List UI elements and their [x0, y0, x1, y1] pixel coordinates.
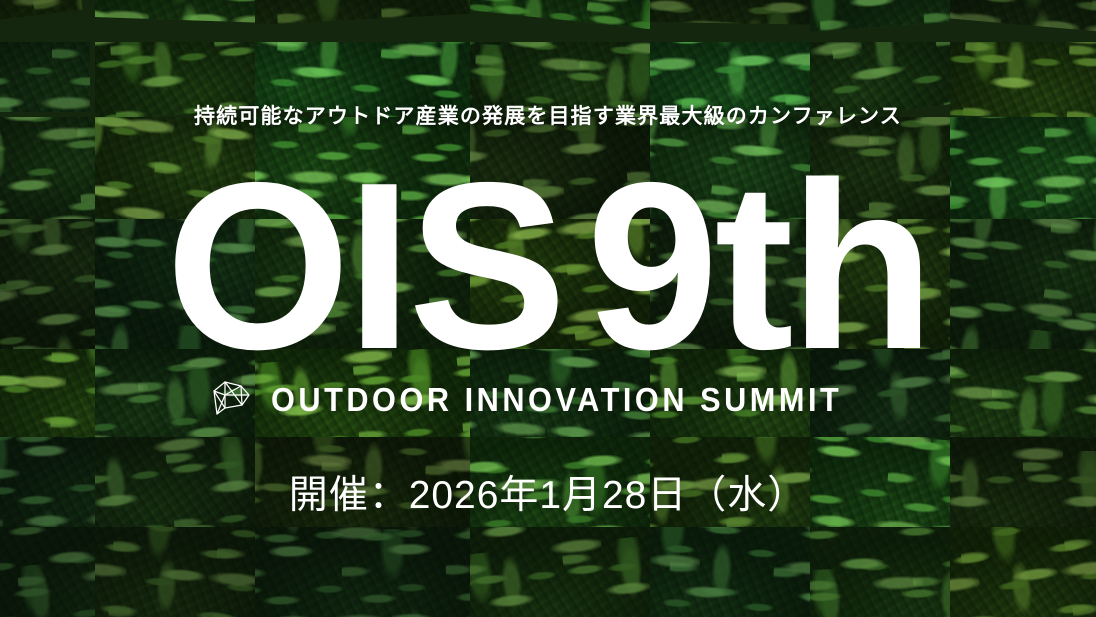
poster-content: 持続可能なアウトドア産業の発展を目指す業界最大級のカンファレンス OIS9th … — [0, 0, 1096, 617]
title-acronym: OIS — [165, 134, 562, 399]
event-poster: 持続可能なアウトドア産業の発展を目指す業界最大級のカンファレンス OIS9th … — [0, 0, 1096, 617]
poster-date: 開催：2026年1月28日（水） — [0, 473, 1096, 520]
faceted-gem-icon — [211, 378, 253, 420]
title-edition: 9th — [586, 134, 930, 399]
poster-subtitle: OUTDOOR INNOVATION SUMMIT — [271, 383, 842, 416]
poster-tagline: 持続可能なアウトドア産業の発展を目指す業界最大級のカンファレンス — [0, 106, 1096, 127]
poster-main-title: OIS9th — [0, 148, 1096, 386]
poster-subtitle-row: OUTDOOR INNOVATION SUMMIT — [0, 378, 1096, 420]
